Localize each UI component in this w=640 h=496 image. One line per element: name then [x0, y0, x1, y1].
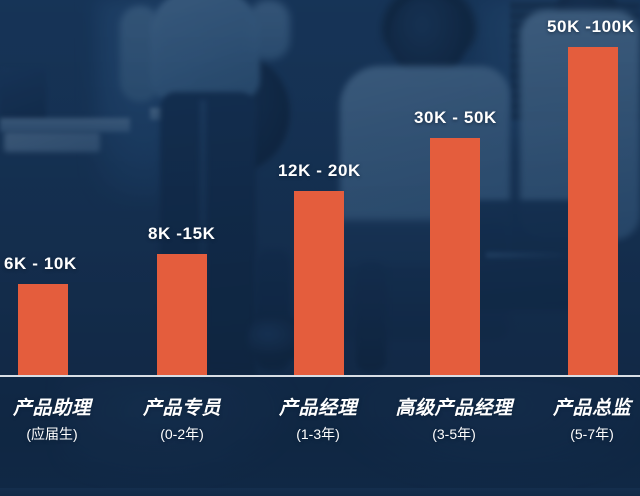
- bar: [18, 284, 68, 375]
- bar-value-label: 50K -100K: [547, 17, 635, 37]
- category-sublabel: (1-3年): [266, 424, 370, 444]
- bar-value-label: 8K -15K: [148, 224, 216, 244]
- category-title: 高级产品经理: [391, 398, 517, 420]
- category-label: 产品专员 (0-2年): [130, 398, 234, 444]
- bar-value-label: 12K - 20K: [278, 161, 361, 181]
- bar: [568, 47, 618, 375]
- category-label: 产品总监 (5-7年): [540, 398, 640, 444]
- category-label: 产品助理 (应届生): [0, 398, 104, 444]
- category-title: 产品经理: [266, 398, 370, 420]
- bar: [157, 254, 207, 375]
- bar: [430, 138, 480, 375]
- category-title: 产品助理: [0, 398, 104, 420]
- baseline-axis: [0, 375, 640, 377]
- category-label: 高级产品经理 (3-5年): [391, 398, 517, 444]
- category-sublabel: (5-7年): [540, 424, 640, 444]
- bar-value-label: 30K - 50K: [414, 108, 497, 128]
- bar: [294, 191, 344, 375]
- category-sublabel: (应届生): [0, 424, 104, 444]
- bar-value-label: 6K - 10K: [4, 254, 77, 274]
- bar-chart: 6K - 10K 产品助理 (应届生) 8K -15K 产品专员 (0-2年) …: [0, 0, 640, 496]
- category-title: 产品总监: [540, 398, 640, 420]
- chart-infographic: 6K - 10K 产品助理 (应届生) 8K -15K 产品专员 (0-2年) …: [0, 0, 640, 496]
- category-title: 产品专员: [130, 398, 234, 420]
- category-label: 产品经理 (1-3年): [266, 398, 370, 444]
- category-sublabel: (3-5年): [391, 424, 517, 444]
- category-sublabel: (0-2年): [130, 424, 234, 444]
